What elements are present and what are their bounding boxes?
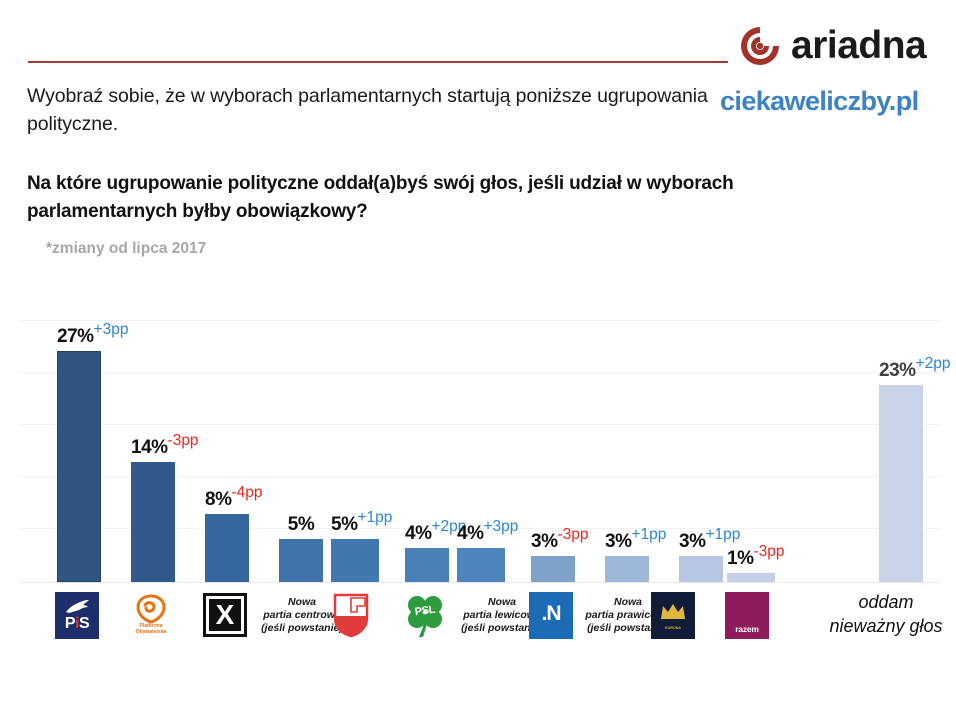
bar-change-label: -4pp — [231, 484, 262, 501]
bar[interactable] — [457, 548, 505, 582]
bar-slot: 3%-3pp — [531, 556, 575, 582]
bar-value-label: 3% — [679, 531, 705, 552]
bar-value-label: 4% — [405, 523, 431, 544]
bar-change-label: +1pp — [705, 526, 740, 543]
bar-slot: 14%-3pp — [131, 462, 175, 582]
gridline — [20, 372, 940, 373]
caption-line: nieważny głos — [829, 616, 942, 636]
bar-value-label: 3% — [605, 531, 631, 552]
po-mark-icon — [136, 594, 166, 624]
brand-block: ariadna ciekaweliczby.pl — [720, 24, 946, 134]
ariadna-wordmark: ariadna — [791, 26, 926, 66]
bar[interactable] — [727, 573, 775, 582]
bar-label-group: 3%+1pp — [605, 531, 649, 553]
bar-label-group: 4%+2pp — [405, 523, 449, 545]
bar-value-label: 27% — [57, 326, 94, 347]
caption-line: oddam — [858, 592, 913, 612]
chart-plot-area: 27%+3pp14%-3pp8%-4pp5%5%+1pp4%+2pp4%+3pp… — [0, 290, 956, 590]
axis-item-nowoczesna: .N — [526, 586, 576, 644]
bar-change-label: +3pp — [94, 321, 129, 338]
bar[interactable] — [405, 548, 449, 582]
crown-icon — [660, 603, 686, 620]
bar-value-label: 23% — [879, 360, 916, 381]
kukiz-logo: X — [203, 593, 247, 637]
bar-change-label: +1pp — [631, 526, 666, 543]
pis-wordmark: PiS — [55, 616, 99, 632]
bar-value-label: 4% — [457, 523, 483, 544]
bar-label-group: 23%+2pp — [879, 360, 923, 382]
axis-item-po: PlatformaObywatelska — [126, 586, 176, 644]
bar-label-group: 4%+3pp — [457, 523, 505, 545]
bar-slot: 1%-3pp — [727, 573, 775, 582]
bar-value-label: 3% — [531, 531, 557, 552]
bar-value-label: 8% — [205, 489, 231, 510]
bar-slot: 4%+2pp — [405, 548, 449, 582]
bar-slot: 5%+1pp — [331, 539, 379, 582]
ariadna-logo: ariadna — [738, 24, 926, 68]
bar[interactable] — [57, 351, 101, 582]
axis-item-razem: razem — [722, 586, 772, 644]
intro-text: Wyobraź sobie, że w wyborach parlamentar… — [27, 82, 727, 138]
bar-label-group: 5% — [279, 514, 323, 536]
bar-change-label: +1pp — [357, 509, 392, 526]
bar-chart: 27%+3pp14%-3pp8%-4pp5%5%+1pp4%+2pp4%+3pp… — [0, 290, 956, 701]
header-section: Wyobraź sobie, że w wyborach parlamentar… — [0, 0, 956, 290]
polska-shield-logo — [331, 592, 371, 638]
bar[interactable] — [531, 556, 575, 582]
bar-change-label: -3pp — [753, 543, 784, 560]
ciekaweliczby-logo: ciekaweliczby.pl — [720, 86, 919, 117]
nowoczesna-wordmark: .N — [529, 603, 573, 625]
axis-item-korona: KORONA — [648, 586, 698, 644]
bar-label-group: 27%+3pp — [57, 326, 101, 348]
bar-slot: 5% — [279, 539, 323, 582]
caption-line: Nowa — [614, 596, 642, 608]
axis-labels-row: PiS PlatformaObywatelska X — [0, 586, 956, 701]
note-text: *zmiany od lipca 2017 — [46, 240, 206, 258]
header-divider — [28, 61, 728, 63]
bar[interactable] — [679, 556, 723, 582]
bar-slot: 3%+1pp — [605, 556, 649, 582]
axis-baseline — [20, 582, 940, 583]
po-wordmark: PlatformaObywatelska — [129, 623, 173, 635]
pis-logo: PiS — [55, 592, 99, 639]
razem-wordmark: razem — [725, 625, 769, 634]
bar-value-label: 5% — [331, 514, 357, 535]
caption-line: Nowa — [288, 596, 316, 608]
platforma-obywatelska-logo: PlatformaObywatelska — [129, 592, 173, 639]
bar-value-label: 5% — [288, 514, 314, 535]
gridline — [20, 424, 940, 425]
bar-slot: 4%+3pp — [457, 548, 505, 582]
bar-label-group: 3%-3pp — [531, 531, 575, 553]
caption-line: Nowa — [488, 596, 516, 608]
crown-wordmark: KORONA — [651, 626, 695, 630]
bar-label-group: 8%-4pp — [205, 489, 249, 511]
axis-caption-invalid-vote: oddam nieważny głos — [816, 590, 956, 638]
bar[interactable] — [205, 514, 249, 582]
kukiz-x-icon: X — [209, 599, 241, 631]
gridline — [20, 320, 940, 321]
question-text: Na które ugrupowanie polityczne oddał(a)… — [27, 170, 737, 226]
bar-change-label: -3pp — [557, 526, 588, 543]
bar-label-group: 5%+1pp — [331, 514, 379, 536]
bar-change-label: -3pp — [168, 432, 199, 449]
bar-value-label: 14% — [131, 437, 168, 458]
bar[interactable] — [605, 556, 649, 582]
axis-item-kukiz: X — [200, 586, 250, 644]
crown-logo: KORONA — [651, 592, 695, 639]
bar-label-group: 14%-3pp — [131, 437, 175, 459]
bar-slot: 23%+2pp — [879, 385, 923, 582]
bar-slot: 27%+3pp — [57, 351, 101, 582]
bar-value-label: 1% — [727, 548, 753, 569]
bar-label-group: 3%+1pp — [679, 531, 723, 553]
bar[interactable] — [131, 462, 175, 582]
razem-logo: razem — [725, 592, 769, 639]
bar-change-label: +2pp — [916, 355, 951, 372]
nowoczesna-logo: .N — [529, 592, 573, 639]
bar-change-label: +3pp — [483, 518, 518, 535]
bar[interactable] — [279, 539, 323, 582]
bar-slot: 3%+1pp — [679, 556, 723, 582]
eagle-icon — [63, 599, 91, 615]
bar-label-group: 1%-3pp — [727, 548, 775, 570]
bar[interactable] — [879, 385, 923, 582]
axis-item-pis: PiS — [52, 586, 102, 644]
axis-item-polska — [326, 586, 376, 644]
bar[interactable] — [331, 539, 379, 582]
axis-item-psl: PSL — [400, 586, 450, 644]
bar-slot: 8%-4pp — [205, 514, 249, 582]
psl-logo: PSL — [403, 592, 447, 639]
ariadna-spiral-icon — [738, 24, 782, 68]
kukiz-x-glyph: X — [216, 601, 235, 629]
